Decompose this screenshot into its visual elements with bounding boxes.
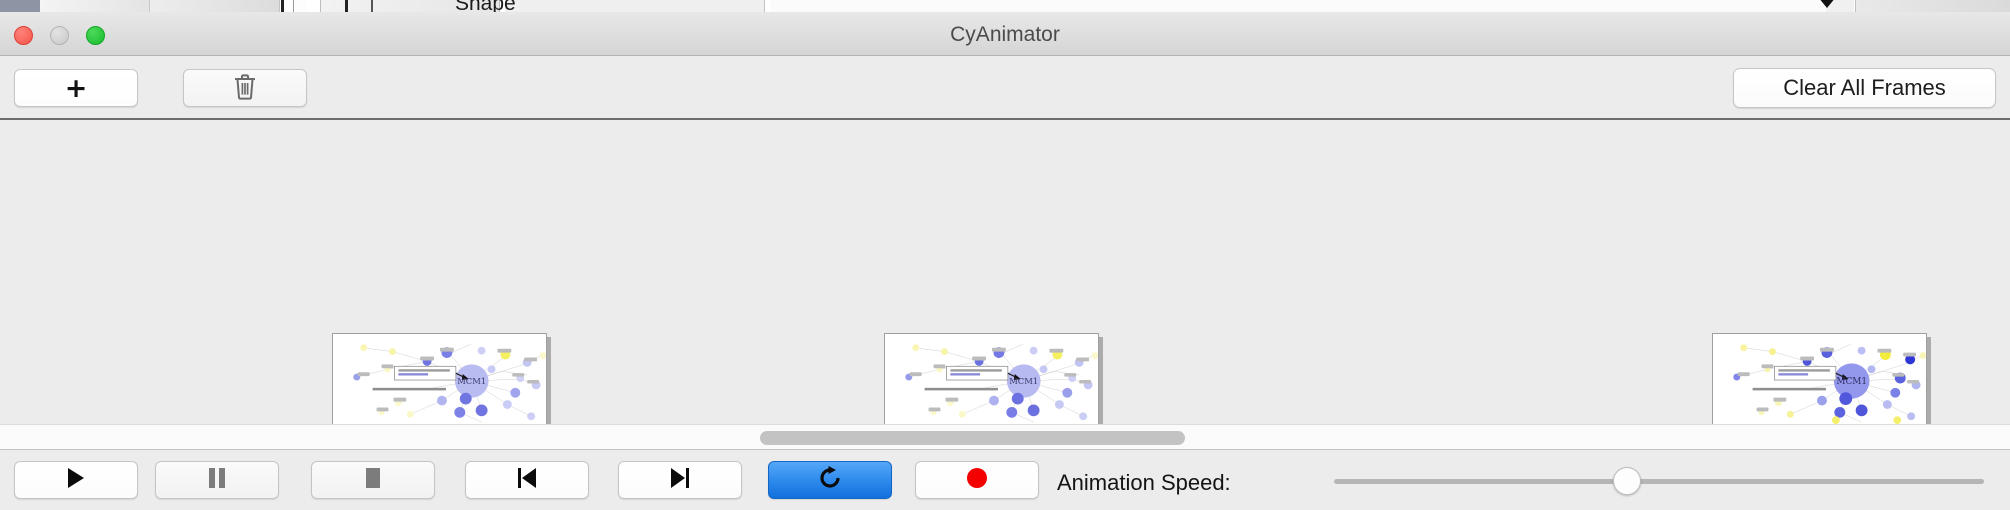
network-graph-preview: MCM1 — [885, 334, 1098, 424]
play-icon — [65, 466, 87, 494]
first-frame-button[interactable] — [465, 461, 589, 499]
frame-thumbnail[interactable]: MCM1 — [884, 333, 1099, 424]
last-frame-button[interactable] — [618, 461, 742, 499]
title-bar: CyAnimator — [0, 12, 2010, 56]
add-frame-button[interactable]: + — [14, 69, 138, 107]
animation-speed-label: Animation Speed: — [1057, 470, 1231, 496]
network-graph-preview: MCM1 — [1713, 334, 1926, 424]
record-icon — [965, 466, 989, 494]
window-title: CyAnimator — [0, 23, 2010, 47]
cyanimator-window: CyAnimator + Clear All Frames — [0, 12, 2010, 510]
delete-frame-button[interactable] — [183, 69, 307, 107]
skip-back-icon — [516, 466, 538, 494]
bg-divider-1 — [281, 0, 284, 12]
plus-icon: + — [65, 75, 88, 102]
toolbar: + Clear All Frames — [0, 56, 2010, 120]
horizontal-scrollbar-thumb[interactable] — [760, 431, 1185, 445]
svg-text:MCM1: MCM1 — [1009, 376, 1038, 386]
playback-controls: Animation Speed: — [0, 450, 2010, 510]
network-graph-preview: MCM1 — [333, 334, 546, 424]
play-button[interactable] — [14, 461, 138, 499]
skip-forward-icon — [669, 466, 691, 494]
animation-speed-slider-thumb[interactable] — [1613, 467, 1641, 495]
svg-text:MCM1: MCM1 — [457, 376, 486, 386]
svg-text:MCM1: MCM1 — [1836, 377, 1867, 387]
timeline-panel[interactable]: MCM1 — [0, 120, 2010, 424]
bg-divider-2 — [345, 0, 348, 12]
trash-icon — [233, 73, 257, 104]
loop-icon — [817, 465, 843, 495]
stop-button[interactable] — [311, 461, 435, 499]
stop-icon — [363, 466, 383, 494]
frame-thumbnail[interactable]: MCM1 — [1712, 333, 1927, 424]
record-button[interactable] — [915, 461, 1039, 499]
bg-divider-3 — [371, 0, 373, 12]
loop-button[interactable] — [768, 461, 892, 499]
horizontal-scrollbar-track[interactable] — [0, 424, 2010, 450]
clear-all-frames-button[interactable]: Clear All Frames — [1733, 68, 1996, 108]
pause-icon — [207, 466, 227, 494]
pause-button[interactable] — [155, 461, 279, 499]
bg-caret-icon — [1818, 0, 1836, 8]
clear-all-frames-label: Clear All Frames — [1783, 75, 1946, 101]
frame-thumbnail[interactable]: MCM1 — [332, 333, 547, 424]
animation-speed-slider[interactable] — [1334, 479, 1984, 484]
